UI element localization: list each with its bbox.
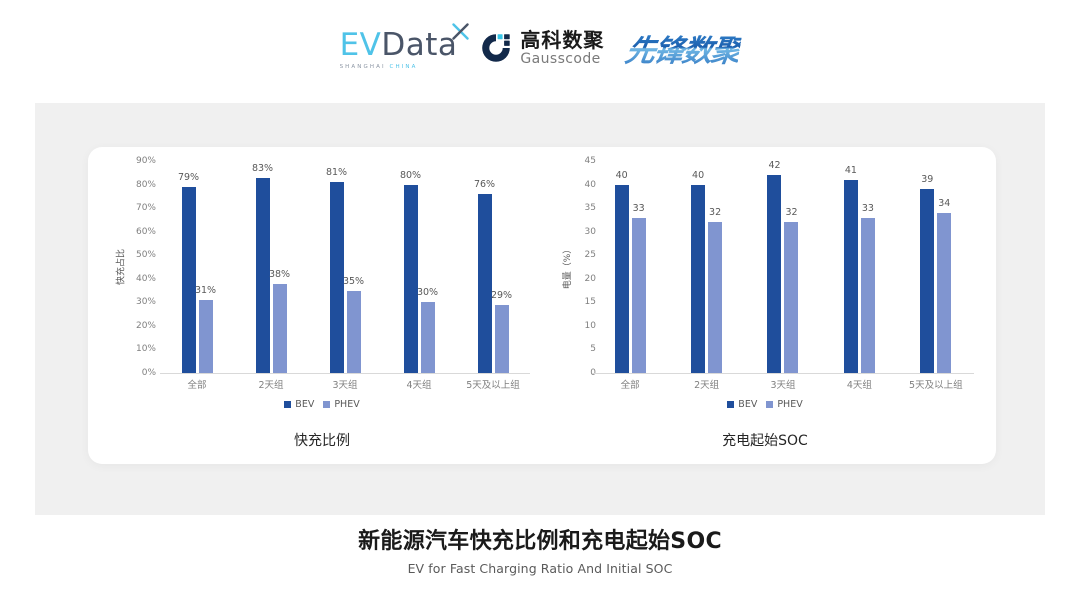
chart-caption: 充电起始SOC	[540, 430, 990, 450]
bar-value-label: 33	[633, 203, 645, 214]
plot-area: 40334032423241333934	[592, 161, 974, 374]
legend-item-phev[interactable]: PHEV	[766, 399, 802, 410]
legend-swatch-icon	[284, 401, 291, 408]
legend-label: PHEV	[777, 399, 802, 410]
bar-bev[interactable]: 40	[691, 185, 705, 373]
bar-value-label: 34	[938, 198, 950, 209]
y-axis-tick-label: 90%	[136, 156, 156, 166]
legend-item-phev[interactable]: PHEV	[323, 399, 359, 410]
y-axis-tick-label: 0%	[142, 368, 156, 378]
bar-value-label: 39	[921, 174, 933, 185]
gausscode-logo: 高科数聚 Gausscode	[479, 30, 604, 66]
bar-group: 3934	[898, 161, 974, 373]
bar-bev[interactable]: 41	[844, 180, 858, 373]
bar-value-label: 40	[616, 170, 628, 181]
plot-area: 79%31%83%38%81%35%80%30%76%29%	[160, 161, 530, 374]
y-axis-tick-label: 10%	[136, 344, 156, 354]
x-axis-tick-label: 全部	[621, 377, 640, 391]
gausscode-text: 高科数聚 Gausscode	[520, 30, 604, 66]
bar-value-label: 42	[768, 160, 780, 171]
x-axis-labels: 全部2天组3天组4天组5天及以上组	[160, 377, 530, 393]
bar-value-label: 83%	[252, 163, 273, 174]
bar-value-label: 32	[785, 207, 797, 218]
bar-phev[interactable]: 35%	[347, 291, 361, 373]
bar-phev[interactable]: 30%	[421, 302, 435, 373]
bar-group: 81%35%	[308, 161, 382, 373]
legend-swatch-icon	[727, 401, 734, 408]
bar-bev[interactable]: 81%	[330, 182, 344, 373]
y-axis-tick-label: 40%	[136, 274, 156, 284]
bar-phev[interactable]: 38%	[273, 284, 287, 374]
bar-value-label: 40	[692, 170, 704, 181]
bar-phev[interactable]: 31%	[199, 300, 213, 373]
x-axis-tick-label: 4天组	[847, 377, 872, 391]
bar-bev[interactable]: 83%	[256, 178, 270, 374]
bar-value-label: 29%	[491, 290, 512, 301]
xianfeng-shuju-logo: 先锋数聚	[623, 26, 744, 70]
bar-value-label: 30%	[417, 287, 438, 298]
y-axis-ticks: 051015202530354045	[556, 161, 596, 373]
legend-item-bev[interactable]: BEV	[727, 399, 757, 410]
bar-value-label: 33	[862, 203, 874, 214]
footer: 新能源汽车快充比例和充电起始SOC EV for Fast Charging R…	[0, 528, 1080, 576]
bar-phev[interactable]: 33	[632, 218, 646, 373]
y-axis-tick-label: 50%	[136, 250, 156, 260]
bar-bev[interactable]: 76%	[478, 194, 492, 373]
bar-bev[interactable]: 80%	[404, 185, 418, 373]
bar-group: 4032	[668, 161, 744, 373]
chart-legend: BEVPHEV	[540, 399, 990, 410]
y-axis-tick-label: 80%	[136, 180, 156, 190]
chart-fast-charging-ratio: 快充占比0%10%20%30%40%50%60%70%80%90%79%31%8…	[98, 147, 546, 464]
evdata-tagline-city: SHANGHAI	[340, 64, 386, 70]
x-axis-tick-label: 5天及以上组	[466, 377, 520, 391]
bar-value-label: 76%	[474, 179, 495, 190]
y-axis-ticks: 0%10%20%30%40%50%60%70%80%90%	[116, 161, 156, 373]
bar-phev[interactable]: 33	[861, 218, 875, 373]
bar-value-label: 38%	[269, 269, 290, 280]
bar-value-label: 79%	[178, 172, 199, 183]
bar-bev[interactable]: 79%	[182, 187, 196, 373]
plot-wrapper: 快充占比0%10%20%30%40%50%60%70%80%90%79%31%8…	[98, 161, 546, 373]
legend-label: BEV	[738, 399, 757, 410]
y-axis-tick-label: 30%	[136, 297, 156, 307]
evdata-word-prefix: EV	[340, 27, 382, 63]
gausscode-name-en: Gausscode	[520, 52, 604, 66]
bar-phev[interactable]: 29%	[495, 305, 509, 373]
x-axis-tick-label: 5天及以上组	[909, 377, 963, 391]
charts-card: 快充占比0%10%20%30%40%50%60%70%80%90%79%31%8…	[88, 147, 996, 464]
bar-bev[interactable]: 42	[767, 175, 781, 373]
y-axis-tick-label: 60%	[136, 227, 156, 237]
legend-label: BEV	[295, 399, 314, 410]
bar-value-label: 81%	[326, 167, 347, 178]
bar-value-label: 35%	[343, 276, 364, 287]
logo-bar: EVData SHANGHAI CHINA 高科数聚 Gausscode 先锋数…	[0, 0, 1080, 96]
bar-bev[interactable]: 39	[920, 189, 934, 373]
bar-phev[interactable]: 34	[937, 213, 951, 373]
bar-value-label: 41	[845, 165, 857, 176]
x-axis-tick-label: 2天组	[694, 377, 719, 391]
plot-wrapper: 电量（%）05101520253035404540334032423241333…	[540, 161, 990, 373]
page-title: 新能源汽车快充比例和充电起始SOC	[0, 528, 1080, 556]
legend-swatch-icon	[323, 401, 330, 408]
page-subtitle: EV for Fast Charging Ratio And Initial S…	[0, 561, 1080, 576]
bar-value-label: 32	[709, 207, 721, 218]
legend-item-bev[interactable]: BEV	[284, 399, 314, 410]
bar-group: 4033	[592, 161, 668, 373]
x-axis-tick-label: 3天组	[770, 377, 795, 391]
bar-group: 4232	[745, 161, 821, 373]
bar-group: 80%30%	[382, 161, 456, 373]
y-axis-tick-label: 20%	[136, 321, 156, 331]
bar-value-label: 31%	[195, 285, 216, 296]
x-axis-labels: 全部2天组3天组4天组5天及以上组	[592, 377, 974, 393]
x-axis-tick-label: 全部	[187, 377, 206, 391]
chart-initial-soc: 电量（%）05101520253035404540334032423241333…	[540, 147, 990, 464]
x-mark-icon	[452, 23, 469, 40]
x-axis-tick-label: 2天组	[258, 377, 283, 391]
evdata-wordmark: EVData	[340, 30, 458, 61]
chart-legend: BEVPHEV	[98, 399, 546, 410]
gausscode-name-cn: 高科数聚	[520, 30, 604, 50]
y-axis-tick-label: 70%	[136, 203, 156, 213]
bar-group: 83%38%	[234, 161, 308, 373]
bar-value-label: 80%	[400, 170, 421, 181]
bar-bev[interactable]: 40	[615, 185, 629, 373]
bar-phev[interactable]: 32	[708, 222, 722, 373]
evdata-word-suffix: Data	[381, 27, 457, 63]
bar-phev[interactable]: 32	[784, 222, 798, 373]
chart-caption: 快充比例	[98, 430, 546, 450]
x-axis-tick-label: 3天组	[332, 377, 357, 391]
legend-swatch-icon	[766, 401, 773, 408]
bar-group: 79%31%	[160, 161, 234, 373]
evdata-tagline-country: CHINA	[390, 64, 418, 70]
bar-group: 76%29%	[456, 161, 530, 373]
legend-label: PHEV	[334, 399, 359, 410]
evdata-tagline: SHANGHAI CHINA	[340, 64, 418, 70]
gausscode-c-mark-icon	[479, 31, 513, 65]
evdata-logo: EVData SHANGHAI CHINA	[340, 26, 458, 70]
x-axis-tick-label: 4天组	[406, 377, 431, 391]
bar-group: 4133	[821, 161, 897, 373]
